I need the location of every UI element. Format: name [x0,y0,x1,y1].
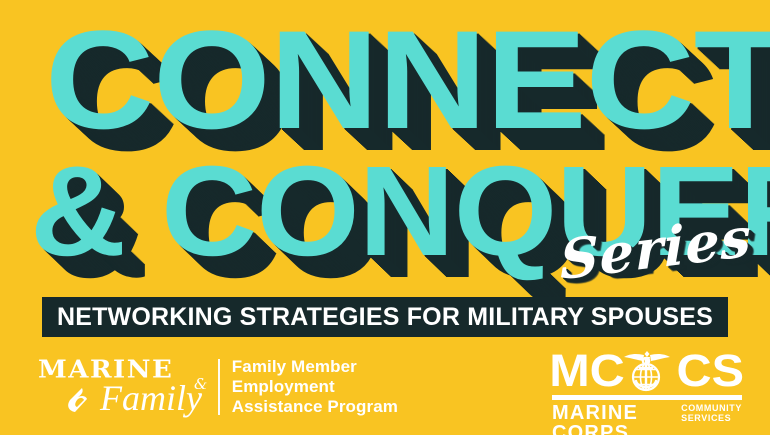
headline-line-1: CONNECT [45,10,770,150]
subtitle-banner: NETWORKING STRATEGIES FOR MILITARY SPOUS… [42,297,728,337]
mccs-community-services-text: COMMUNITY SERVICES [681,404,742,424]
program-line-3: Assistance Program [232,397,398,417]
mccs-marine-corps-text: MARINE CORPS [552,403,675,435]
mccs-subtitle: MARINE CORPS COMMUNITY SERVICES [552,403,742,435]
mccs-rule [552,395,742,400]
title-area: CONNECT & CONQUER Series [0,0,770,300]
logo-divider [218,359,220,415]
family-wordmark: Family [100,380,202,416]
footer-logo-bar: MARINE & Family Family Member Employment… [0,345,770,435]
eagle-globe-anchor-icon [618,347,676,397]
ribbon-flame-icon [64,386,94,414]
subtitle-banner-text: NETWORKING STRATEGIES FOR MILITARY SPOUS… [57,303,713,332]
mccs-letters-left: MC [549,349,625,393]
mccs-services-line: SERVICES [681,414,742,424]
marine-and-family-lockup: MARINE & Family Family Member Employment… [38,353,398,421]
program-line-2: Employment [232,377,398,397]
program-line-1: Family Member [232,357,398,377]
mccs-letters-right: CS [677,349,745,393]
mccs-logo: MC CS [552,349,742,427]
promo-poster: CONNECT & CONQUER Series NETWORKING STRA… [0,0,770,435]
marine-and-family-logo: MARINE & Family [38,356,212,418]
program-name: Family Member Employment Assistance Prog… [232,357,398,417]
mccs-letter-row: MC CS [552,349,742,393]
